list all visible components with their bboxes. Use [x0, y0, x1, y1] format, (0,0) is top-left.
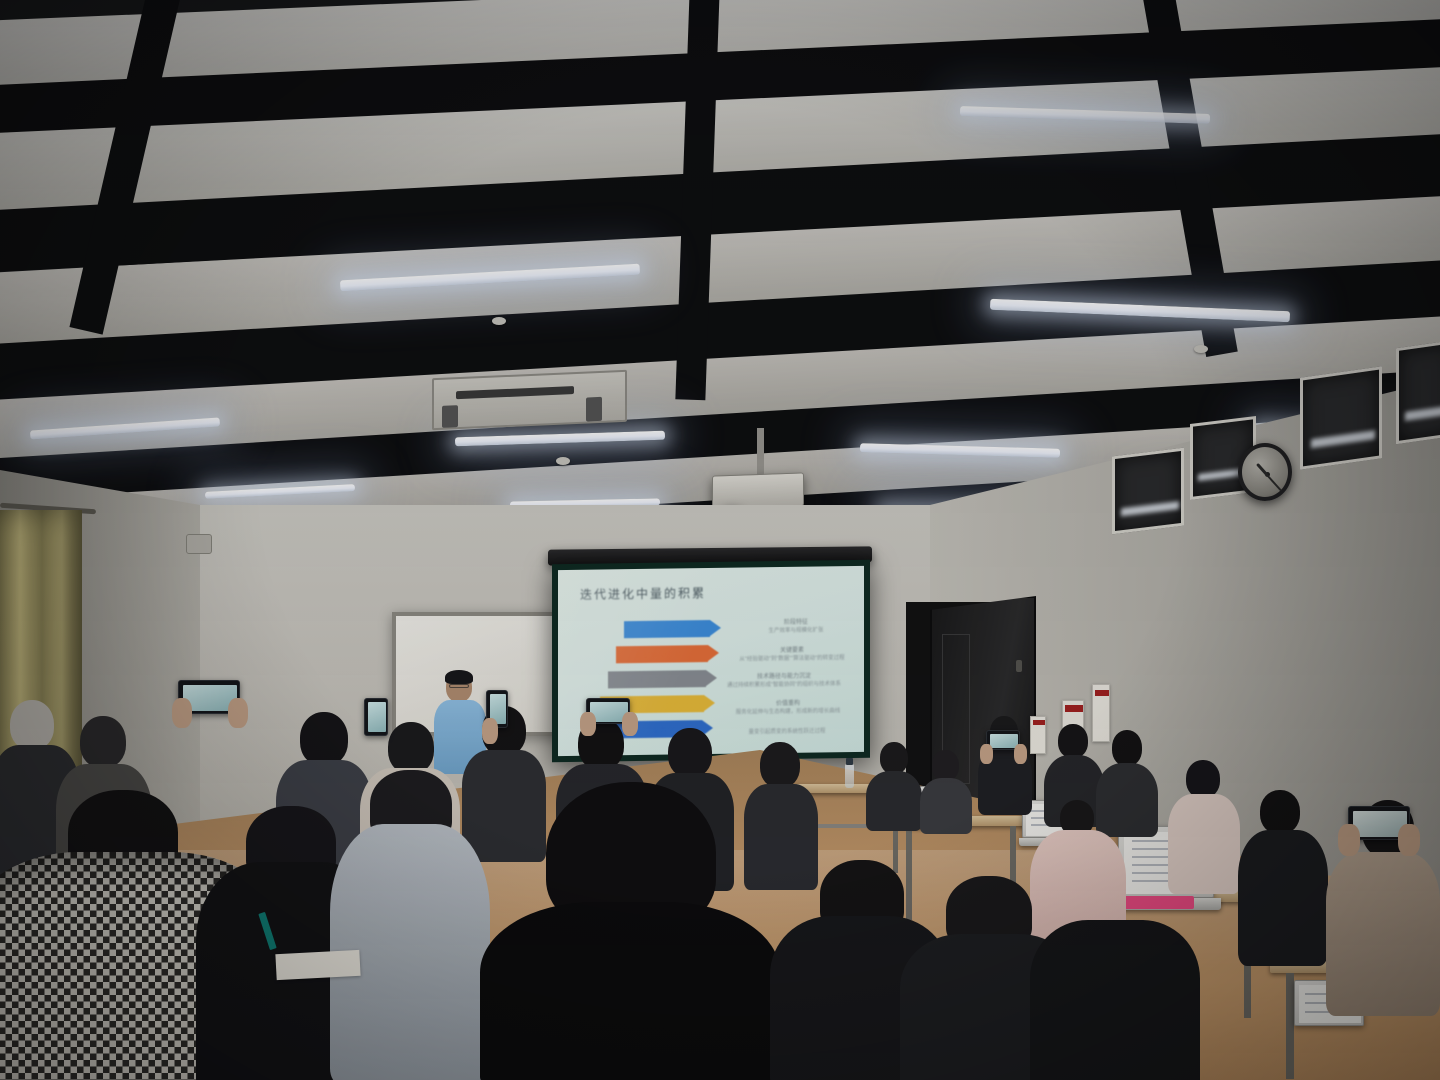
torso: [480, 902, 780, 1080]
smoke-detector-icon: [1194, 345, 1208, 353]
slide-note-body: 生产效率与规模化扩张: [734, 625, 858, 635]
slide-arrow-row: 工业互联网阶段一: [624, 620, 710, 638]
slide-title: 迭代进化中量的积累: [580, 584, 706, 603]
hand: [482, 718, 498, 744]
slide-note-body: 从"经验驱动"到"数据""算法驱动"的转变过程: [724, 653, 860, 663]
smoke-detector-icon: [492, 317, 506, 325]
window-light-glow: [1311, 430, 1375, 448]
slide-arrow-label: 智能决策阶段: [630, 674, 678, 685]
audience-member: [1168, 760, 1240, 890]
hand: [1014, 744, 1027, 764]
head: [388, 722, 434, 774]
hand: [580, 712, 596, 736]
hand: [1338, 824, 1360, 856]
corridor-window: [1300, 366, 1382, 470]
corridor-window: [1396, 340, 1440, 444]
audience-member: [1238, 790, 1328, 960]
slide-note: 价值重构 服务化延伸与生态构建，形成新的增长曲线: [718, 697, 858, 716]
head: [1058, 724, 1088, 758]
slide-arrow-chip: 工业互联网阶段一: [624, 620, 710, 638]
slide-arrow-row: 智能决策阶段: [608, 670, 706, 688]
hand: [622, 712, 638, 736]
head: [932, 750, 959, 781]
slide-arrow-chip: 智能决策阶段: [608, 670, 706, 688]
torso: [1238, 830, 1328, 966]
slide-note: 阶段特征 生产效率与规模化扩张: [734, 616, 858, 635]
slide-arrow-label: 数据驱动升级: [635, 649, 683, 660]
head: [1112, 730, 1142, 766]
paper-sheet: [275, 950, 360, 980]
ac-vent: [586, 397, 602, 422]
audience-member-foreground: [1030, 920, 1200, 1080]
hand: [228, 698, 248, 728]
phone-screen: [368, 702, 386, 732]
head: [80, 716, 126, 768]
slide-note: 量变引起质变的系统性跃迁过程: [714, 726, 860, 736]
phone[interactable]: [364, 698, 388, 736]
hand: [1398, 824, 1420, 856]
slide-note: 关键要素 从"经验驱动"到"数据""算法驱动"的转变过程: [724, 644, 860, 663]
slide-note-body: 服务化延伸与生态构建，形成新的增长曲线: [718, 706, 858, 716]
ac-vent: [442, 405, 458, 428]
desk-leg: [1286, 973, 1294, 1079]
torso: [920, 778, 972, 834]
head: [1260, 790, 1300, 834]
wall-clock: [1238, 443, 1292, 501]
smoke-detector-icon: [556, 457, 570, 465]
corridor-window: [1112, 448, 1184, 535]
pink-notebook: [1122, 896, 1194, 909]
screen-content-line: [1132, 872, 1170, 874]
audience-member-foreground: [480, 782, 780, 1080]
ceiling-air-conditioner: [432, 370, 627, 431]
phone-screen: [990, 734, 1018, 748]
slide-arrow-chip: 数据驱动升级: [616, 645, 708, 663]
presenter-glasses-icon: [449, 684, 469, 688]
clock-minute-hand: [1266, 474, 1282, 491]
door-lock-icon: [1016, 660, 1022, 672]
slide-arrow-row: 数据驱动升级: [616, 645, 708, 663]
ac-vent: [456, 386, 574, 399]
notice-red-band: [1065, 705, 1083, 712]
slide-note: 技术路径与能力沉淀 通过持续积累形成"智能协同"的组织与技术体系: [708, 670, 860, 689]
slide-arrow-label: 工业互联网阶段一: [632, 624, 696, 635]
notice-red-band: [1095, 690, 1109, 696]
head: [1186, 760, 1220, 798]
window-light-glow: [1405, 405, 1440, 420]
hand: [980, 744, 993, 764]
torso: [1030, 920, 1200, 1080]
slide-note-body: 通过持续积累形成"智能协同"的组织与技术体系: [708, 679, 860, 689]
torso: [1168, 794, 1240, 894]
slide-note-body: 量变引起质变的系统性跃迁过程: [714, 726, 860, 736]
head: [668, 728, 712, 778]
bottle-cap: [846, 758, 853, 765]
classroom-scene: 迭代进化中量的积累 工业互联网阶段一 数据驱动升级 智能决策阶段 全流程数字化转: [0, 0, 1440, 1080]
window-light-glow: [1121, 501, 1179, 516]
wall-speaker: [186, 534, 212, 554]
head: [880, 742, 908, 774]
torso: [1326, 852, 1440, 1016]
projector-mount: [757, 428, 764, 476]
audience-member: [920, 750, 972, 830]
audience-member: [866, 742, 922, 828]
audience-member-foreground: [330, 770, 490, 1080]
water-bottle: [845, 764, 854, 788]
head: [10, 700, 54, 750]
presenter-hair: [445, 670, 473, 684]
hand: [172, 698, 192, 728]
torso: [866, 771, 922, 831]
head: [300, 712, 348, 766]
